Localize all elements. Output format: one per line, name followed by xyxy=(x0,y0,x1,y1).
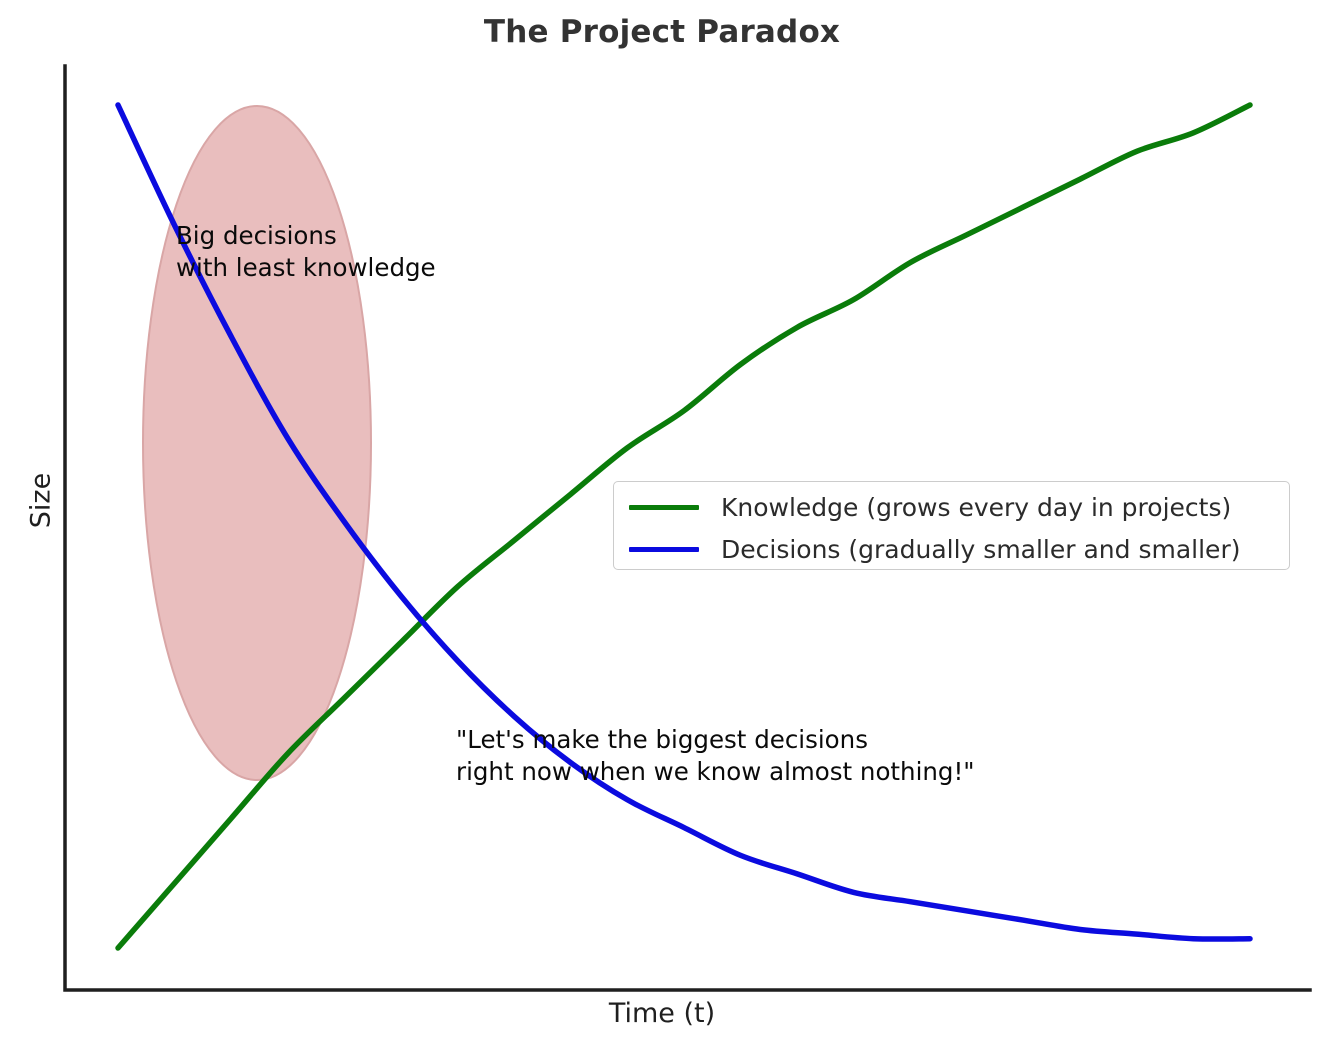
x-axis-label: Time (t) xyxy=(0,998,1324,1029)
legend: Knowledge (grows every day in projects) … xyxy=(613,481,1290,570)
legend-color-swatch-knowledge xyxy=(629,505,699,510)
legend-color-swatch-decisions xyxy=(629,547,699,552)
legend-item-decisions[interactable]: Decisions (gradually smaller and smaller… xyxy=(629,534,1240,564)
chart-figure: The Project Paradox Size Time (t) Big de… xyxy=(0,0,1324,1054)
legend-label-decisions: Decisions (gradually smaller and smaller… xyxy=(721,535,1240,564)
annotation-quote: "Let's make the biggest decisions right … xyxy=(456,724,975,789)
y-axis-label: Size xyxy=(26,446,57,556)
legend-label-knowledge: Knowledge (grows every day in projects) xyxy=(721,493,1231,522)
annotation-big-decisions: Big decisions with least knowledge xyxy=(176,220,436,285)
legend-item-knowledge[interactable]: Knowledge (grows every day in projects) xyxy=(629,492,1231,522)
highlight-ellipse xyxy=(143,106,371,780)
